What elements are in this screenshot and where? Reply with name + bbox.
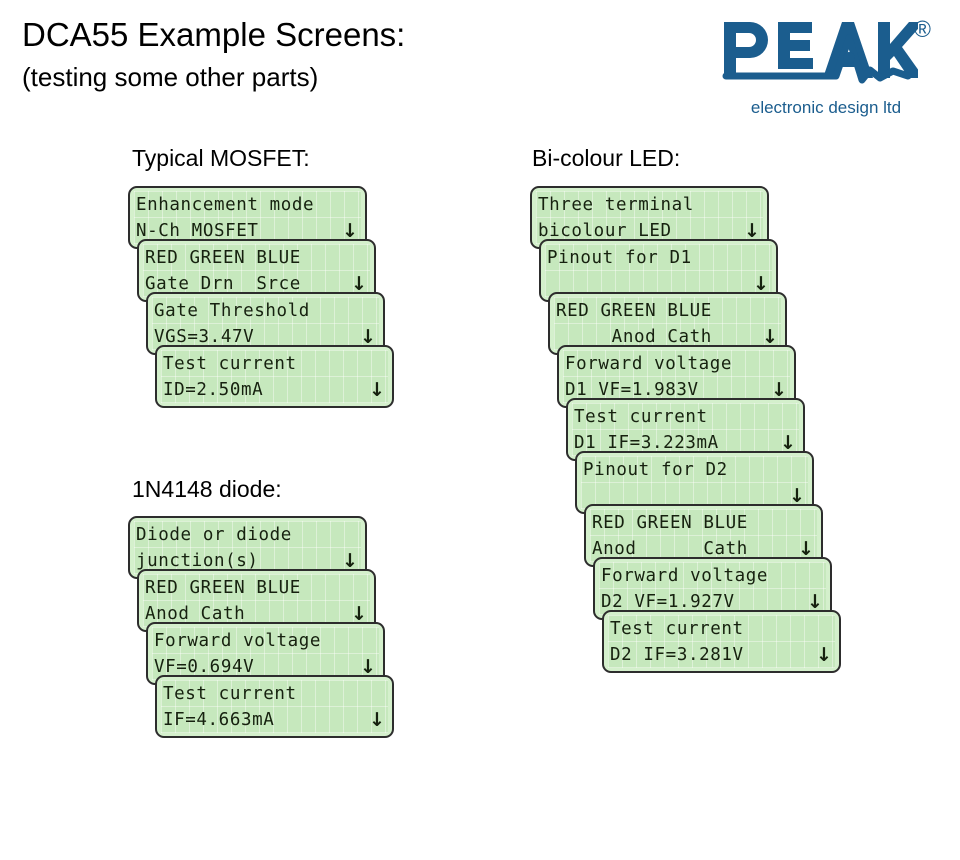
lcd-line-1: Pinout for D2 (581, 457, 808, 483)
lcd-line-1: Diode or diode (134, 522, 361, 548)
lcd-panel-diode-test-current: Test currentIF=4.663mA↓ (155, 675, 394, 738)
lcd-line-1: Test current (161, 351, 388, 377)
lcd-screen-area: Test currentIF=4.663mA↓ (161, 680, 388, 733)
lcd-line-1: Forward voltage (152, 628, 379, 654)
lcd-panel-mosfet-test-current: Test currentID=2.50mA↓ (155, 345, 394, 408)
lcd-screen-area: Forward voltageVF=0.694V↓ (152, 627, 379, 680)
section-heading-bicolour-led: Bi-colour LED: (532, 144, 680, 172)
lcd-line-1: Test current (572, 404, 799, 430)
lcd-line-1: Gate Threshold (152, 298, 379, 324)
lcd-screen-area: RED GREEN BLUE Anod Cath↓ (554, 297, 781, 350)
lcd-line-2: IF=4.663mA (161, 707, 388, 733)
lcd-line-1: Forward voltage (599, 563, 826, 589)
scroll-down-arrow-icon: ↓ (369, 377, 383, 403)
scroll-down-arrow-icon: ↓ (369, 707, 383, 733)
lcd-screen-area: Test currentD1 IF=3.223mA↓ (572, 403, 799, 456)
lcd-line-1: RED GREEN BLUE (554, 298, 781, 324)
lcd-line-2: ID=2.50mA (161, 377, 388, 403)
section-heading-mosfet: Typical MOSFET: (132, 144, 310, 172)
lcd-screen-area: Pinout for D1↓ (545, 244, 772, 297)
lcd-screen-area: Enhancement modeN-Ch MOSFET↓ (134, 191, 361, 244)
scroll-down-arrow-icon: ↓ (816, 642, 830, 668)
lcd-screen-area: Test currentID=2.50mA↓ (161, 350, 388, 403)
lcd-screen-area: Forward voltageD1 VF=1.983V↓ (563, 350, 790, 403)
lcd-line-1: Enhancement mode (134, 192, 361, 218)
lcd-screen-area: Gate ThresholdVGS=3.47V↓ (152, 297, 379, 350)
lcd-screen-area: RED GREEN BLUEGate Drn Srce↓ (143, 244, 370, 297)
lcd-screen-area: Three terminalbicolour LED↓ (536, 191, 763, 244)
lcd-line-1: RED GREEN BLUE (590, 510, 817, 536)
lcd-line-1: Forward voltage (563, 351, 790, 377)
lcd-line-1: Test current (608, 616, 835, 642)
lcd-line-2: D2 IF=3.281V (608, 642, 835, 668)
lcd-screen-area: Forward voltageD2 VF=1.927V↓ (599, 562, 826, 615)
lcd-line-1: Pinout for D1 (545, 245, 772, 271)
lcd-screen-area: Test currentD2 IF=3.281V↓ (608, 615, 835, 668)
lcd-screen-area: RED GREEN BLUEAnod Cath↓ (143, 574, 370, 627)
lcd-line-1: RED GREEN BLUE (143, 245, 370, 271)
lcd-screen-area: Diode or diodejunction(s)↓ (134, 521, 361, 574)
lcd-screen-area: Pinout for D2↓ (581, 456, 808, 509)
lcd-line-1: RED GREEN BLUE (143, 575, 370, 601)
lcd-panel-led-d2-test-current: Test currentD2 IF=3.281V↓ (602, 610, 841, 673)
lcd-line-1: Test current (161, 681, 388, 707)
lcd-line-1: Three terminal (536, 192, 763, 218)
lcd-screen-area: RED GREEN BLUEAnod Cath↓ (590, 509, 817, 562)
section-heading-diode: 1N4148 diode: (132, 475, 282, 503)
